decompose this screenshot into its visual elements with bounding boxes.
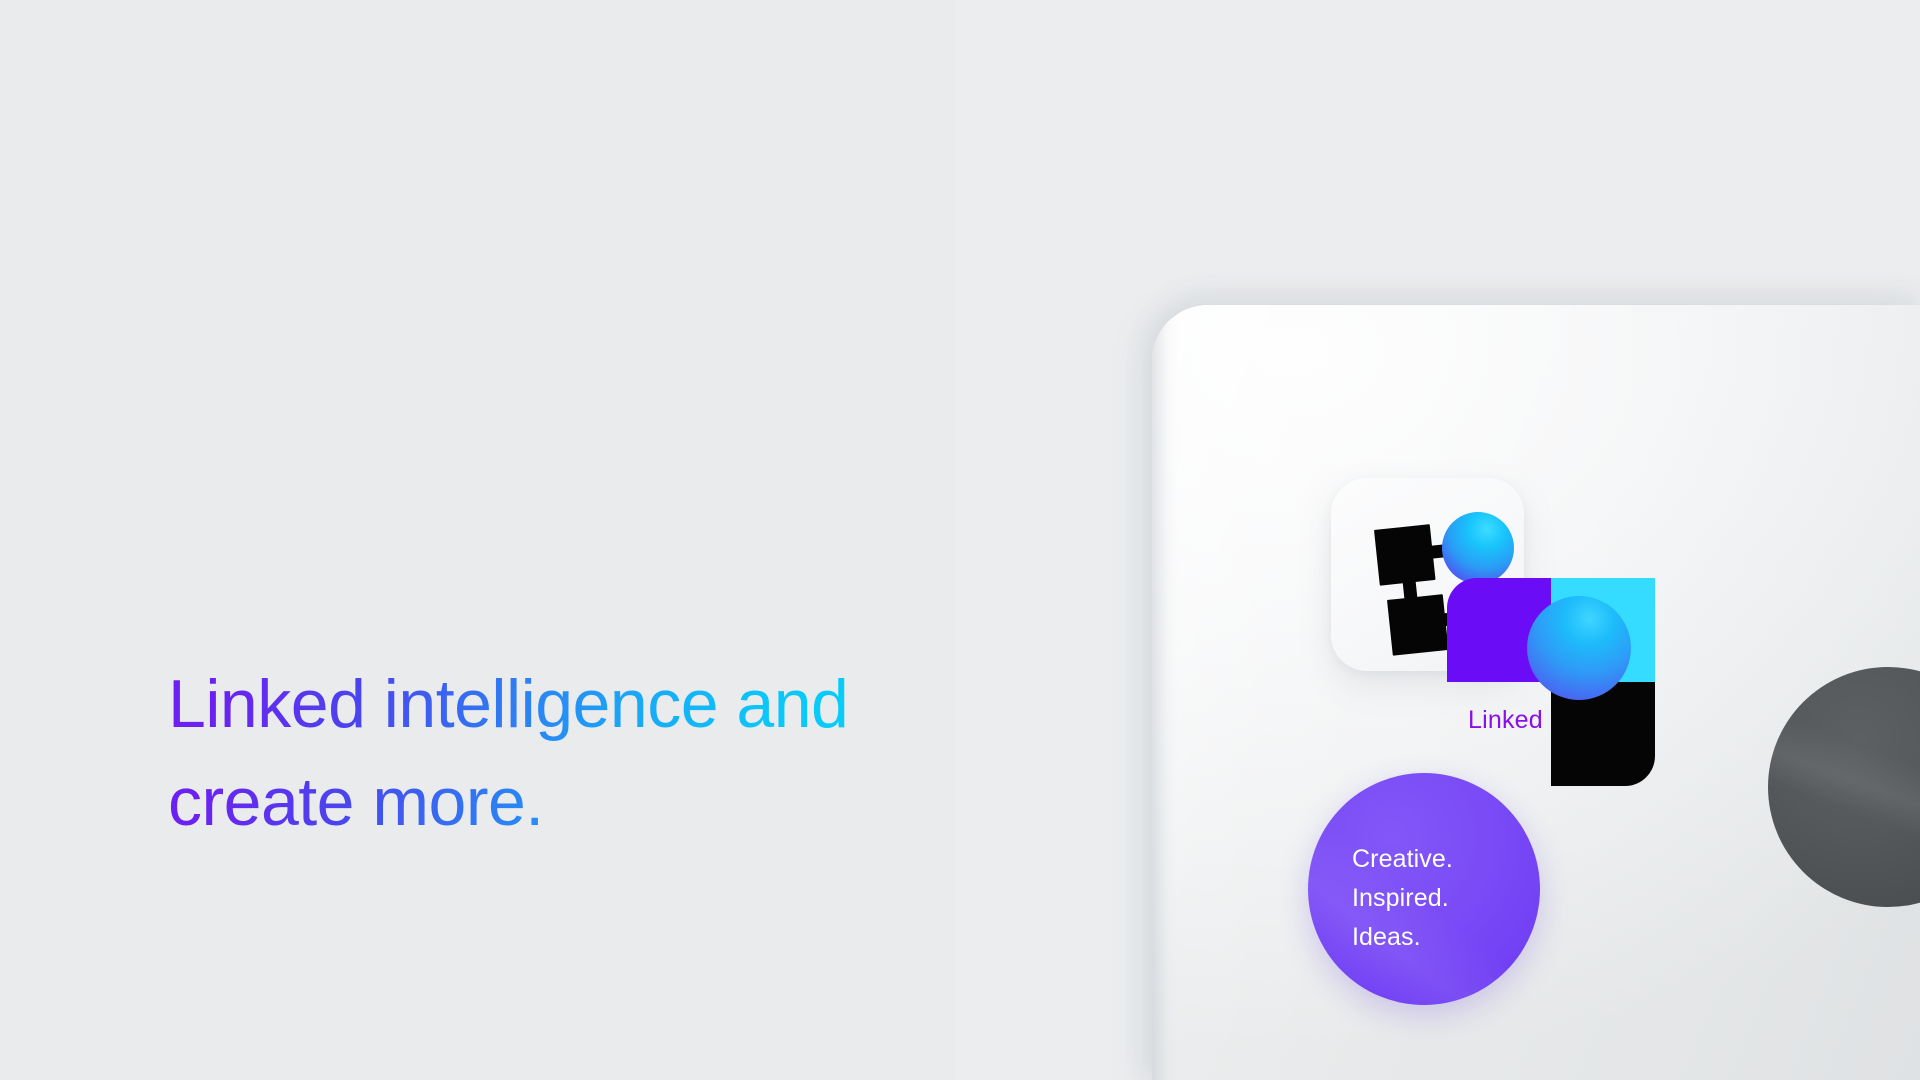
badge-text: Creative. Inspired. Ideas. xyxy=(1352,840,1453,957)
creative-badge-circle: Creative. Inspired. Ideas. xyxy=(1308,773,1540,1005)
backdrop-left-panel xyxy=(0,0,955,1080)
hero-text-block: Linked intelligence and create more. xyxy=(168,655,1048,851)
gradient-sphere-large xyxy=(1527,596,1631,700)
gradient-sphere-small xyxy=(1442,512,1514,584)
hero-headline: Linked intelligence and create more. xyxy=(168,655,1048,851)
linked-wordmark: Linked xyxy=(1468,706,1543,735)
panel-left-edge-shade xyxy=(1152,305,1178,1080)
